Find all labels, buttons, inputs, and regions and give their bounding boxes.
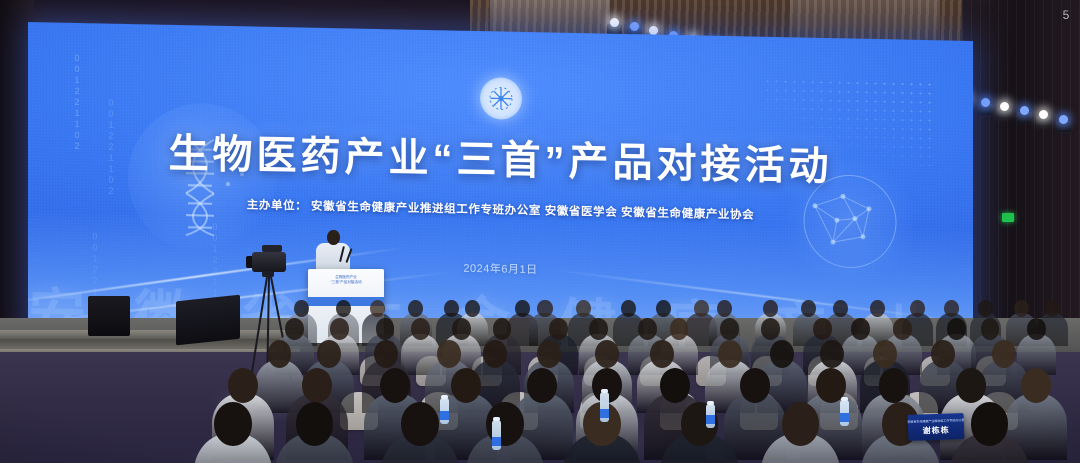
bottle-cap	[707, 401, 714, 405]
audience-member-head	[650, 340, 674, 368]
audience-member-head	[978, 300, 993, 317]
audience-member-head	[851, 318, 870, 340]
audience-member-head	[971, 402, 1009, 446]
audience-member-head	[720, 318, 739, 340]
audience-member-head	[956, 368, 986, 403]
podium-sign-line-2: “三首”产品对接活动	[314, 280, 378, 285]
audience-member-head	[770, 340, 794, 368]
audience-member-head	[537, 340, 561, 368]
bottle-label	[600, 409, 609, 418]
audience-member-head	[401, 402, 439, 446]
audience-member-head	[380, 368, 410, 403]
audience-member-head	[879, 368, 909, 403]
stage-monitor	[176, 295, 240, 346]
audience-member-head	[285, 318, 304, 340]
radiating-circle-emblem-svg	[487, 84, 515, 113]
audience-member-head	[694, 300, 709, 317]
stage-light	[1059, 115, 1068, 124]
stage-light	[1020, 106, 1029, 115]
bottle-label	[440, 411, 449, 420]
bottle-cap	[841, 397, 848, 401]
pa-speaker	[88, 296, 130, 336]
audience-member-head	[537, 300, 552, 317]
audience-member-head	[660, 368, 690, 403]
audience-member-head	[1021, 368, 1051, 403]
audience-member-head	[452, 318, 471, 340]
bottle-label	[492, 437, 501, 446]
audience-member-head	[317, 340, 341, 368]
audience-member-head	[589, 318, 608, 340]
audience-member-head	[576, 300, 591, 317]
placard-org: 安徽省生命健康产业推进组工作专班办公室	[907, 418, 964, 424]
exit-sign-icon	[1002, 213, 1014, 222]
audience-member-head	[527, 368, 557, 403]
audience-member-head	[813, 318, 832, 340]
audience-member-head	[296, 402, 334, 446]
video-camera-body	[252, 252, 286, 272]
speaker-head	[327, 230, 340, 245]
audience-member-head	[820, 340, 844, 368]
audience-member-head	[228, 368, 258, 403]
bottle-label	[840, 413, 849, 422]
audience-member-head	[411, 318, 430, 340]
audience-member-head	[638, 318, 657, 340]
led-stage-screen: 001221102 001221102 001221102 001221102 …	[28, 22, 973, 359]
camera-top-handle	[262, 245, 282, 252]
audience-member-head	[1027, 318, 1046, 340]
stage-light	[610, 18, 619, 27]
audience-member-head	[947, 318, 966, 340]
audience-member-head	[451, 368, 481, 403]
audience-member-head	[870, 300, 885, 317]
audience-member-head	[493, 318, 512, 340]
audience-member-head	[374, 340, 398, 368]
audience-member-head	[782, 402, 820, 446]
audience-member-head	[893, 318, 912, 340]
event-emblem-icon	[480, 77, 522, 120]
podium-sign-text: 生物医药产业 “三首”产品对接活动	[314, 275, 378, 293]
audience-member-head	[376, 318, 395, 340]
audience-member-head	[483, 340, 507, 368]
bottle-cap	[493, 417, 500, 421]
audience-member-head	[740, 368, 770, 403]
audience-member-head	[330, 318, 349, 340]
audience-member-head	[549, 318, 568, 340]
audience-member-head	[992, 340, 1016, 368]
placard-name: 谢栋栋	[922, 424, 949, 436]
audience-member-head	[718, 340, 742, 368]
audience-member-head	[437, 340, 461, 368]
conference-hall-photo: 5	[0, 0, 1080, 463]
bottle-label	[706, 415, 715, 424]
audience-member-head	[931, 340, 955, 368]
audience-member-head	[761, 318, 780, 340]
bottle-cap	[441, 395, 448, 399]
stage-light	[630, 22, 639, 31]
audience-member-head	[670, 318, 689, 340]
audience-member-head	[873, 340, 897, 368]
audience-member-head	[981, 318, 1000, 340]
audience-member-head	[214, 402, 252, 446]
audience-member-head	[268, 340, 292, 368]
audience-member-head	[302, 368, 332, 403]
stage-light	[1000, 102, 1009, 111]
bottle-cap	[601, 389, 608, 393]
stage-light	[981, 98, 990, 107]
name-placard: 安徽省生命健康产业推进组工作专班办公室 谢栋栋	[908, 413, 965, 441]
stage-step	[0, 330, 300, 339]
audience-member-head	[595, 340, 619, 368]
